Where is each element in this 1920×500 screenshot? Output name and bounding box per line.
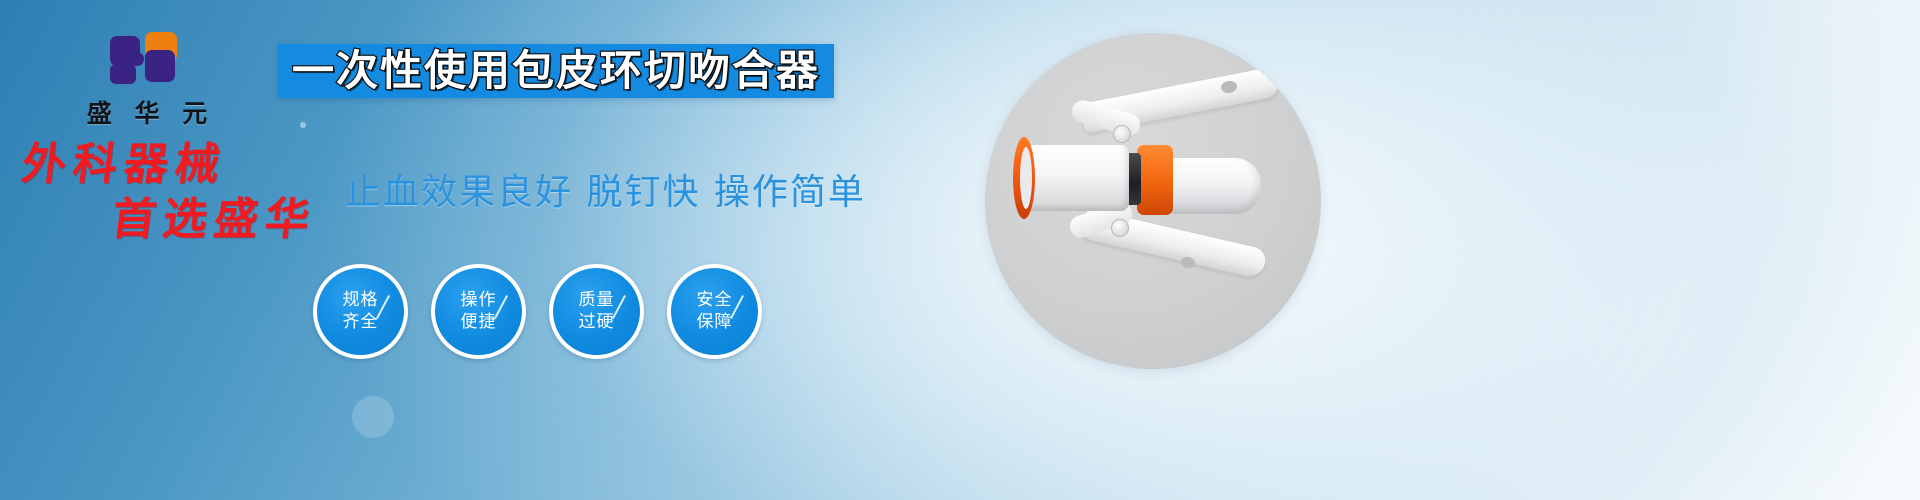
banner-root: 盛 华 元 外科器械 首选盛华 一次性使用包皮环切吻合器 止血效果良好 脱钉快 … (0, 0, 1920, 500)
feature-circle-group: 规格 齐全 操作 便捷 质量 过硬 安全 保障 (313, 264, 762, 359)
calligraphy-slogan: 外科器械 首选盛华 (0, 140, 360, 245)
stapler-body-barrel (1023, 145, 1129, 211)
stapler-pivot-lower (1111, 219, 1129, 237)
feature-label-line1: 安全 (697, 290, 733, 311)
main-title-bar: 一次性使用包皮环切吻合器 (278, 44, 834, 98)
page-title: 一次性使用包皮环切吻合器 (292, 50, 820, 92)
decorative-bubble (300, 122, 306, 128)
feature-label-line2: 便捷 (461, 312, 497, 333)
feature-label-line2: 过硬 (579, 312, 615, 333)
company-logo-icon (104, 28, 190, 90)
stapler-pivot-upper (1113, 125, 1131, 143)
company-name: 盛 华 元 (62, 94, 232, 130)
feature-circle-3[interactable]: 质量 过硬 (549, 264, 644, 359)
feature-label-line2: 保障 (697, 312, 733, 333)
stapler-orange-collar (1137, 145, 1173, 215)
feature-circle-4[interactable]: 安全 保障 (667, 264, 762, 359)
feature-circle-1[interactable]: 规格 齐全 (313, 264, 408, 359)
feature-label-line1: 质量 (579, 290, 615, 311)
logo-block-shape (110, 64, 136, 84)
stapler-anvil-cone (1169, 158, 1261, 214)
stapler-orange-ring (1013, 137, 1035, 219)
product-image (985, 33, 1321, 369)
feature-label-line1: 操作 (461, 290, 497, 311)
calligraphy-line-1: 外科器械 (19, 140, 363, 189)
logo-block-shape (145, 50, 175, 82)
subtitle: 止血效果良好 脱钉快 操作简单 (345, 163, 866, 215)
feature-label-line1: 规格 (343, 290, 379, 311)
feature-circle-2[interactable]: 操作 便捷 (431, 264, 526, 359)
decorative-bubble (352, 396, 394, 438)
feature-label-line2: 齐全 (343, 312, 379, 333)
calligraphy-line-2: 首选盛华 (109, 195, 363, 244)
brand-logo-block: 盛 华 元 (62, 28, 232, 130)
